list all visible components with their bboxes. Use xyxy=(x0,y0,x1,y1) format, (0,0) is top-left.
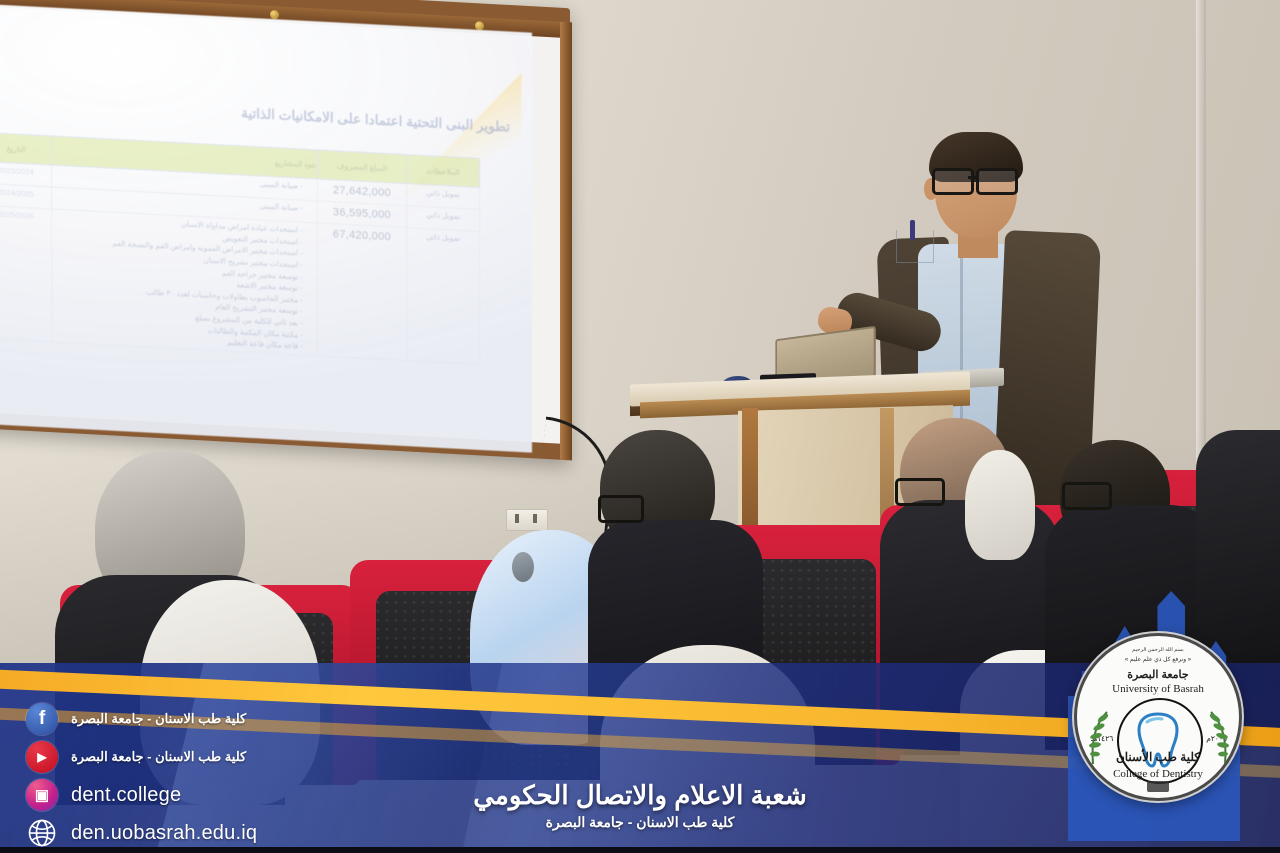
eyeglasses-icon xyxy=(1062,482,1112,510)
hair-clip xyxy=(512,552,534,582)
facebook-label: كلية طب الاسنان - جامعة البصرة xyxy=(71,711,246,727)
facebook-icon[interactable]: f xyxy=(26,703,58,735)
slide-table: الملاحظات المبلغ المصروف بنود المشاريع ا… xyxy=(0,132,480,365)
eyeglasses-icon xyxy=(895,478,945,506)
eyeglasses-icon xyxy=(930,168,1022,190)
slide-title: تطوير البنى التحتية اعتمادا على الامكاني… xyxy=(40,95,510,136)
wall-socket xyxy=(506,509,548,531)
whiteboard-right-rail xyxy=(560,22,572,461)
facebook-glyph: f xyxy=(39,708,45,730)
projected-slide: تطوير البنى التحتية اعتمادا على الامكاني… xyxy=(0,3,532,452)
cell-date: 2025/2026 xyxy=(0,205,51,342)
wall-corner-edge xyxy=(1196,0,1206,470)
social-row-facebook[interactable]: f كلية طب الاسنان - جامعة البصرة xyxy=(26,701,257,737)
items-list-2: استحداث عيادة امراض مداواة الاسنان استحد… xyxy=(56,212,313,353)
social-row-youtube[interactable]: ▶ كلية طب الاسنان - جامعة البصرة xyxy=(26,739,257,775)
cell-note: تمويل ذاتي xyxy=(407,228,480,365)
logo-verse: « ونرفع كل ذي علم عليم » xyxy=(1077,656,1239,663)
audience-headscarf xyxy=(965,450,1035,560)
logo-university-ar: جامعة البصرة xyxy=(1077,668,1239,681)
column-header-date: التاريخ xyxy=(0,132,51,165)
logo-college-en: College of Dentistry xyxy=(1077,768,1239,780)
logo-college-ar: كلية طب الأسنان xyxy=(1077,750,1239,764)
presenter-shirt-pocket xyxy=(896,230,934,263)
pen-icon xyxy=(910,220,915,240)
cell-items: استحداث عيادة امراض مداواة الاسنان استحد… xyxy=(51,209,317,356)
logo-stamp-mark xyxy=(1147,781,1169,792)
eyeglasses-icon xyxy=(598,495,644,523)
youtube-label: كلية طب الاسنان - جامعة البصرة xyxy=(71,749,246,765)
college-logo: بسم الله الرحمن الرحيم « ونرفع كل ذي علم… xyxy=(1056,591,1252,841)
logo-university-en: University of Basrah xyxy=(1077,683,1239,695)
youtube-icon[interactable]: ▶ xyxy=(26,741,58,773)
cell-date: 2024/2025 xyxy=(0,183,51,209)
youtube-glyph: ▶ xyxy=(37,750,46,764)
screenshot-root: تطوير البنى التحتية اعتمادا على الامكاني… xyxy=(0,0,1280,853)
cell-date: 2023/2024 xyxy=(0,161,51,187)
logo-seal: بسم الله الرحمن الرحيم « ونرفع كل ذي علم… xyxy=(1074,633,1242,801)
table-row: تمويل ذاتي 67,420,000 استحداث عيادة امرا… xyxy=(0,205,480,364)
logo-basmala: بسم الله الرحمن الرحيم xyxy=(1077,647,1239,653)
column-header-amount: المبلغ المصروف xyxy=(317,150,406,184)
cell-amount: 67,420,000 xyxy=(317,223,406,361)
column-header-notes: الملاحظات xyxy=(407,155,480,188)
